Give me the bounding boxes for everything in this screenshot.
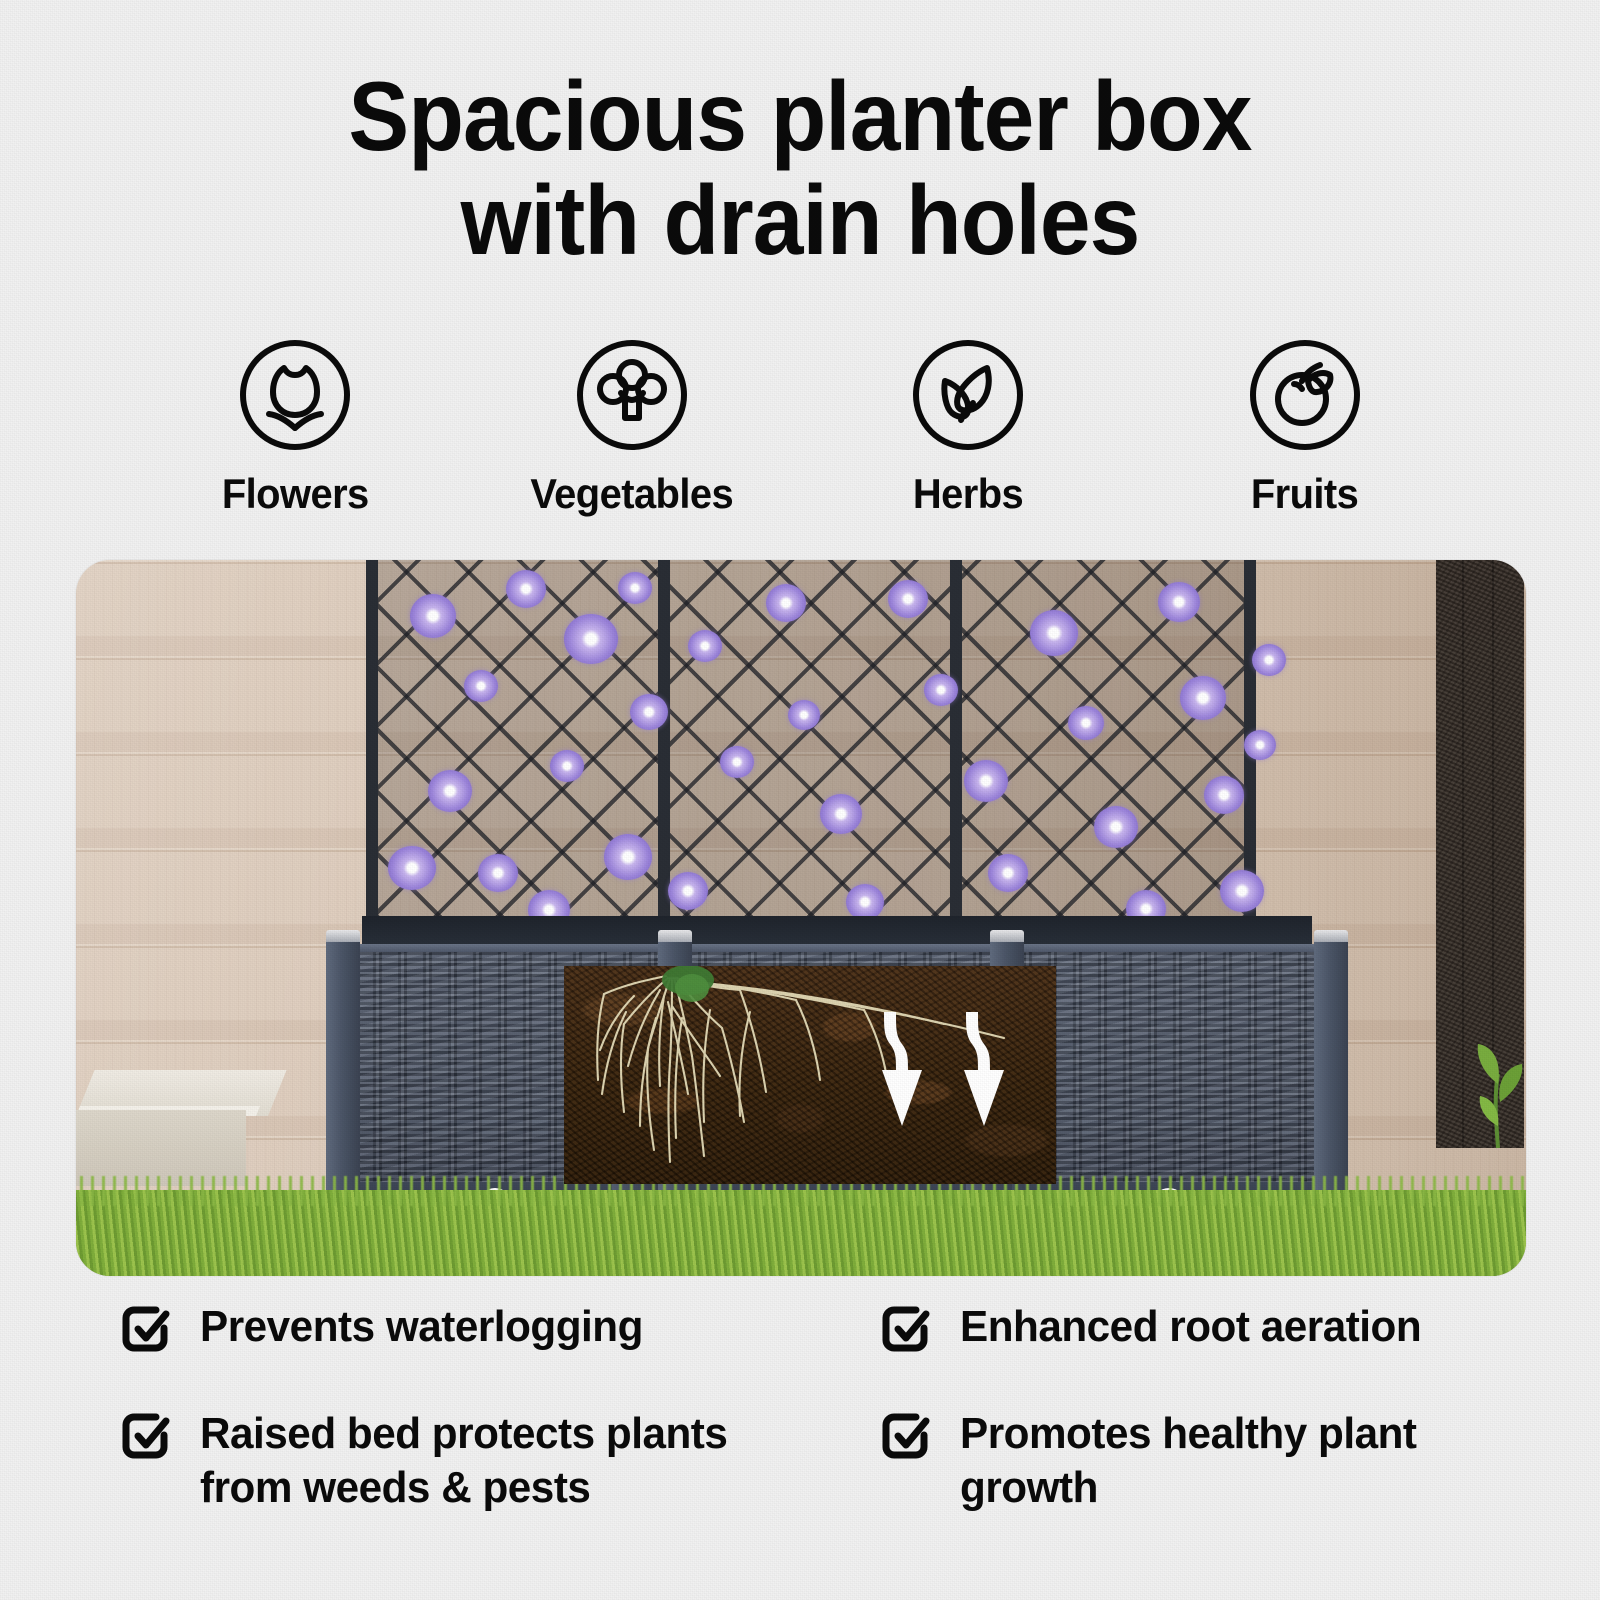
category-label: Fruits (1251, 470, 1358, 518)
category-label: Vegetables (530, 470, 733, 518)
benefit-item: Raised bed protects plants from weeds & … (120, 1407, 880, 1515)
category-herbs: Herbs (823, 336, 1113, 518)
grass-lawn (76, 1190, 1526, 1276)
benefit-text: Raised bed protects plants from weeds & … (200, 1407, 795, 1515)
benefits-list: Prevents waterlogging Enhanced root aera… (120, 1300, 1500, 1515)
benefit-item: Promotes healthy plant growth (880, 1407, 1500, 1515)
category-fruits: Fruits (1160, 336, 1450, 518)
page-title-line-1: Spacious planter box (56, 64, 1544, 168)
product-photo (76, 560, 1526, 1276)
page-title-line-2: with drain holes (56, 168, 1544, 272)
benefit-item: Enhanced root aeration (880, 1300, 1500, 1363)
benefit-text: Promotes healthy plant growth (960, 1407, 1478, 1515)
purple-clematis-flowers (368, 560, 1258, 960)
two-white-down-arrows (864, 1006, 1024, 1156)
check-box-icon (120, 1304, 174, 1363)
category-label: Flowers (222, 470, 369, 518)
category-flowers: Flowers (150, 336, 440, 518)
category-icon-row: Flowers Vegetables (150, 336, 1450, 526)
check-box-icon (880, 1411, 934, 1470)
benefit-item: Prevents waterlogging (120, 1300, 880, 1363)
stone-paver (76, 1070, 268, 1190)
check-box-icon (120, 1411, 174, 1470)
benefit-text: Enhanced root aeration (960, 1300, 1421, 1354)
herb-leaves-icon (909, 336, 1027, 454)
apple-fruit-icon (1246, 336, 1364, 454)
category-vegetables: Vegetables (487, 336, 777, 518)
broccoli-icon (573, 336, 691, 454)
category-label: Herbs (913, 470, 1023, 518)
tulip-flower-icon (236, 336, 354, 454)
check-box-icon (880, 1304, 934, 1363)
page-title: Spacious planter box with drain holes (56, 64, 1544, 272)
product-infographic: Spacious planter box with drain holes Fl… (0, 0, 1600, 1600)
root-soil-cutaway-inset (564, 966, 1056, 1184)
small-plant-sprout (1468, 1030, 1526, 1150)
benefit-text: Prevents waterlogging (200, 1300, 643, 1354)
